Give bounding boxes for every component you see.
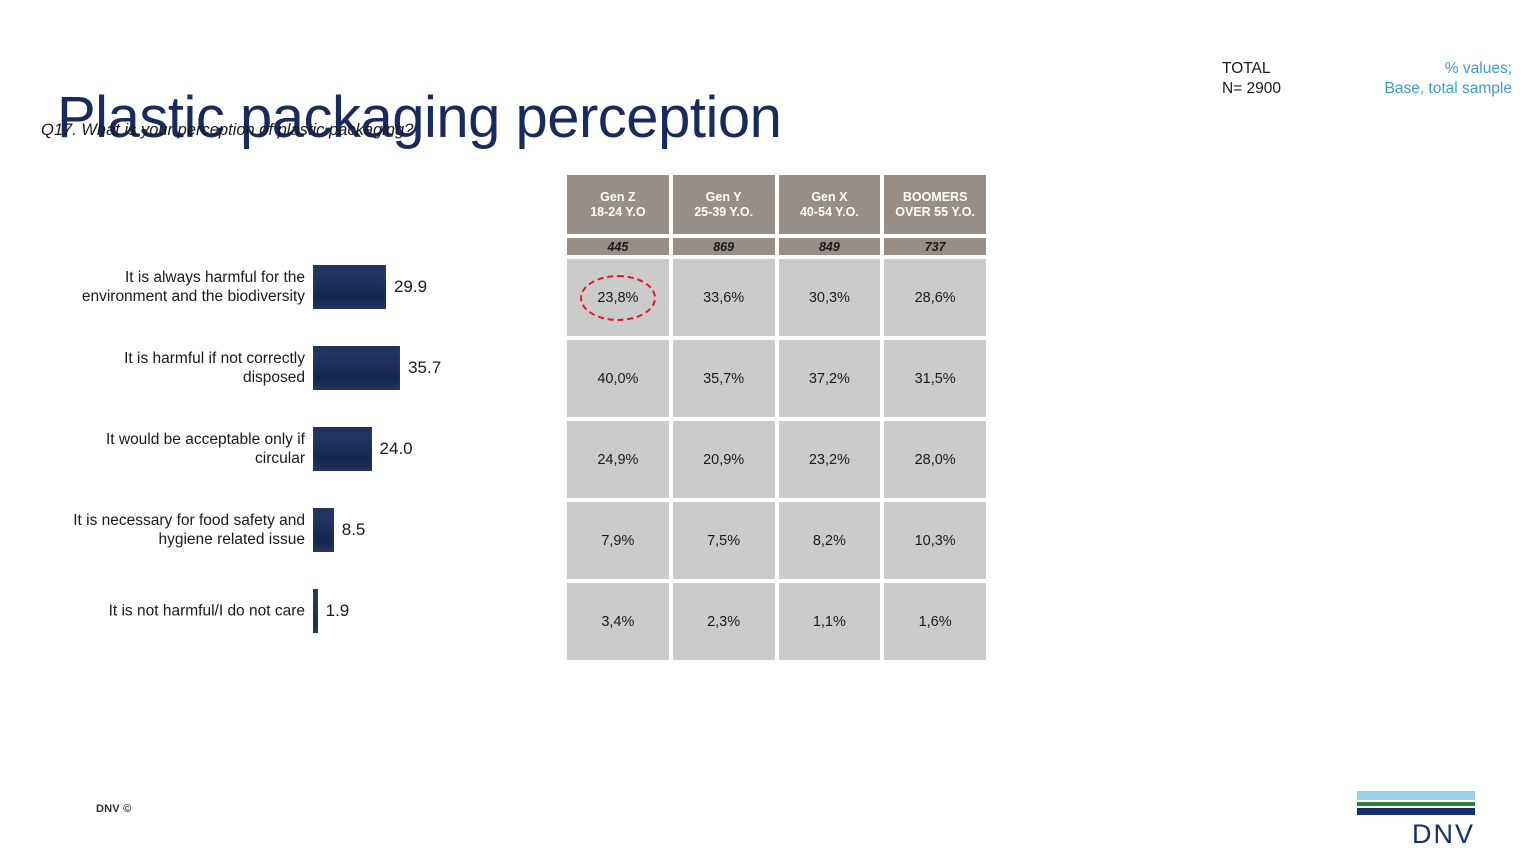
bar-group: 1.9 [313,589,349,633]
bar-row: It is always harmful for the environment… [0,246,540,327]
base-cell: 849 [779,238,881,255]
table-row: 23,8% 33,6% 30,3% 28,6% [567,259,986,336]
table-cell: 23,2% [779,421,881,498]
bar-value-label: 24.0 [380,439,413,459]
bar-row: It would be acceptable only if circular … [0,408,540,489]
table-cell: 28,6% [884,259,986,336]
bar-label: It is necessary for food safety and hygi… [60,511,305,549]
table-cell: 7,9% [567,502,669,579]
table-cell: 1,1% [779,583,881,660]
table-cell: 2,3% [673,583,775,660]
header-line2: 18-24 Y.O [590,205,645,220]
bar-label: It is always harmful for the environment… [60,268,305,306]
logo-stripe-navy [1357,808,1475,815]
meta-row-total: TOTAL % values; [1222,59,1512,79]
total-label: TOTAL [1222,59,1271,79]
table-cell: 31,5% [884,340,986,417]
logo-wordmark: DNV [1357,821,1475,848]
base-note: Base, total sample [1384,79,1512,99]
bar-label: It is not harmful/I do not care [60,601,305,620]
header-line1: Gen X [811,190,847,205]
table-cell: 33,6% [673,259,775,336]
bar-mark [313,508,334,552]
table-cell: 3,4% [567,583,669,660]
bar-group: 29.9 [313,265,427,309]
header-line1: Gen Z [600,190,635,205]
table-cell: 28,0% [884,421,986,498]
header-line2: 25-39 Y.O. [694,205,753,220]
bar-mark [313,427,372,471]
bar-mark [313,265,386,309]
table-base-row: 445 869 849 737 [567,238,986,255]
table-row: 7,9% 7,5% 8,2% 10,3% [567,502,986,579]
bar-label: It is harmful if not correctly disposed [60,349,305,387]
bar-value-label: 8.5 [342,520,366,540]
table-cell: 7,5% [673,502,775,579]
header-line1: Gen Y [706,190,742,205]
table-header-cell-gen-y: Gen Y 25-39 Y.O. [673,175,775,234]
base-cell: 737 [884,238,986,255]
bar-group: 24.0 [313,427,413,471]
meta-row-base: N= 2900 Base, total sample [1222,79,1512,99]
table-row: 24,9% 20,9% 23,2% 28,0% [567,421,986,498]
bar-value-label: 1.9 [326,601,350,621]
total-value: N= 2900 [1222,79,1281,99]
bar-label: It would be acceptable only if circular [60,430,305,468]
table-cell: 35,7% [673,340,775,417]
dnv-logo: DNV [1357,791,1475,848]
copyright-text: DNV © [96,803,131,815]
bar-row: It is necessary for food safety and hygi… [0,489,540,570]
bar-row: It is harmful if not correctly disposed … [0,327,540,408]
logo-stripe-light-blue [1357,791,1475,800]
header-line1: BOOMERS [903,190,968,205]
table-cell: 10,3% [884,502,986,579]
table-cell: 30,3% [779,259,881,336]
bar-mark [313,346,400,390]
table-row: 40,0% 35,7% 37,2% 31,5% [567,340,986,417]
percent-values-note: % values; [1445,59,1512,79]
table-cell: 40,0% [567,340,669,417]
bar-group: 35.7 [313,346,441,390]
table-cell: 24,9% [567,421,669,498]
base-cell: 445 [567,238,669,255]
table-header-row: Gen Z 18-24 Y.O Gen Y 25-39 Y.O. Gen X 4… [567,175,986,234]
table-cell: 37,2% [779,340,881,417]
table-cell: 20,9% [673,421,775,498]
table-cell-highlighted: 23,8% [567,259,669,336]
table-cell: 8,2% [779,502,881,579]
bar-chart: It is always harmful for the environment… [0,246,540,651]
table-header-cell-gen-z: Gen Z 18-24 Y.O [567,175,669,234]
header-line2: OVER 55 Y.O. [895,205,975,220]
base-cell: 869 [673,238,775,255]
table-cell: 1,6% [884,583,986,660]
table-row: 3,4% 2,3% 1,1% 1,6% [567,583,986,660]
bar-mark [313,589,318,633]
bar-group: 8.5 [313,508,365,552]
generation-table: Gen Z 18-24 Y.O Gen Y 25-39 Y.O. Gen X 4… [567,175,986,664]
bar-row: It is not harmful/I do not care 1.9 [0,570,540,651]
bar-value-label: 29.9 [394,277,427,297]
bar-value-label: 35.7 [408,358,441,378]
table-header-cell-boomers: BOOMERS OVER 55 Y.O. [884,175,986,234]
question-subtitle: Q17. What is your perception of plastic … [41,121,413,140]
header-line2: 40-54 Y.O. [800,205,859,220]
table-header-cell-gen-x: Gen X 40-54 Y.O. [779,175,881,234]
slide-canvas: Plastic packaging perception Q17. What i… [0,0,1524,851]
meta-block: TOTAL % values; N= 2900 Base, total samp… [1222,59,1512,99]
